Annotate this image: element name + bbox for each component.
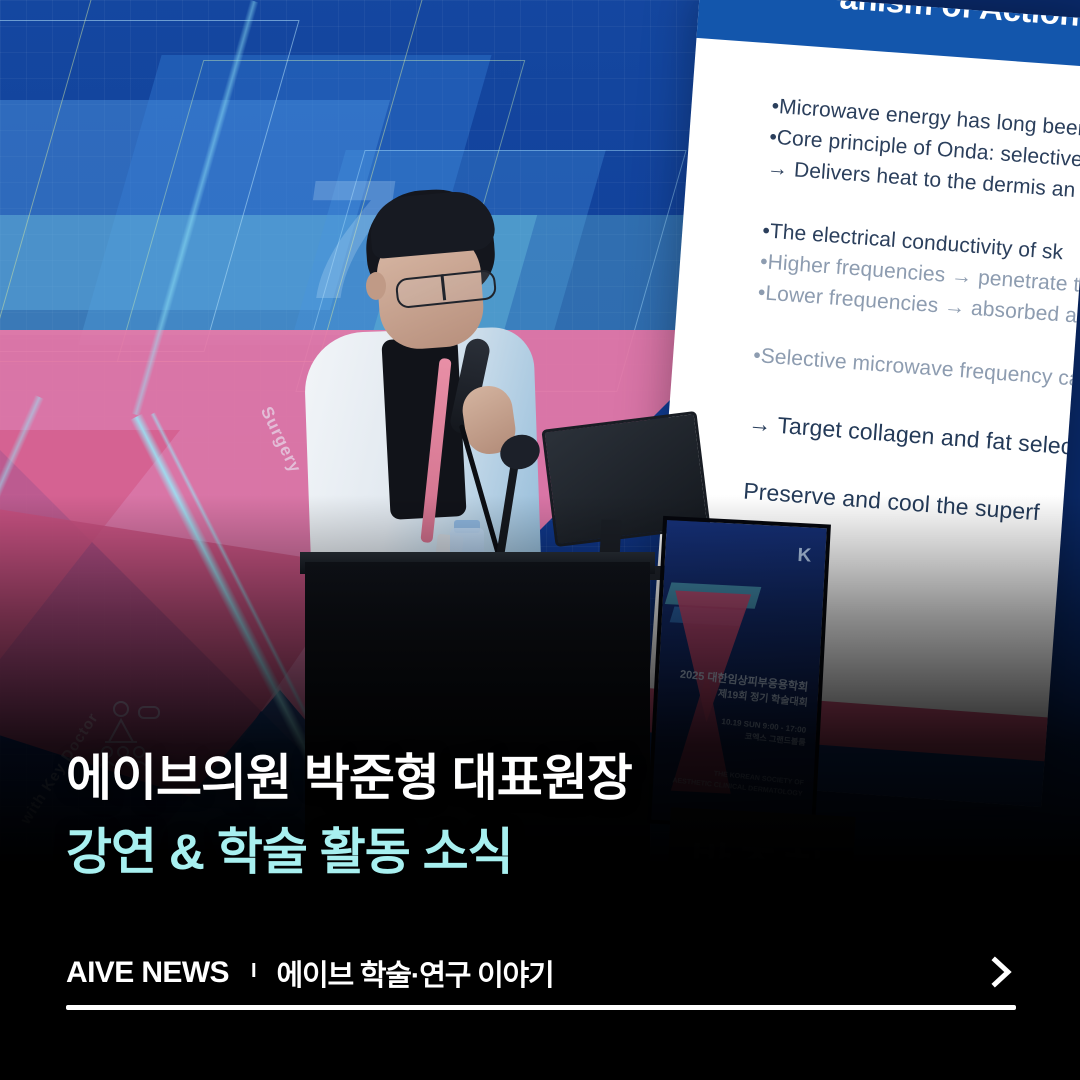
footer-text-row: AIVE NEWS I 에이브 학술·연구 이야기 bbox=[66, 952, 554, 994]
speaker-nameplate: 박준형 bbox=[665, 807, 855, 922]
slide-body: •Microwave energy has long been •Core pr… bbox=[742, 91, 1080, 538]
brand-label: AIVE NEWS bbox=[66, 956, 229, 990]
speaker-ear bbox=[366, 272, 386, 300]
footer-kicker: 에이브 학술·연구 이야기 bbox=[277, 952, 554, 994]
footer-divider bbox=[66, 1005, 1016, 1010]
footer-bar: AIVE NEWS I 에이브 학술·연구 이야기 bbox=[0, 925, 1080, 1080]
event-poster: K 2025 대한임상피부응용학회 제19회 정기 학술대회 10.19 SUN… bbox=[647, 516, 831, 832]
slide-bullet: → Target collagen and fat selec bbox=[747, 405, 1080, 470]
poster-logo: K bbox=[797, 545, 812, 568]
chevron-right-icon[interactable] bbox=[984, 955, 1018, 989]
nameplate-name: 박준형 bbox=[688, 826, 833, 902]
footer-separator: I bbox=[251, 960, 257, 983]
speaker-fringe bbox=[368, 189, 497, 260]
slide-bullet: •Selective microwave frequency ca bbox=[752, 340, 1080, 402]
slide-bullet-list: •Microwave energy has long been •Core pr… bbox=[742, 91, 1080, 538]
headline-line-2: 강연 & 학술 활동 소식 bbox=[66, 826, 513, 879]
news-card: 7 Surgery with Key Doctor anism of Actio… bbox=[0, 0, 1080, 1080]
headline-line-1: 에이브의원 박준형 대표원장 bbox=[66, 752, 632, 805]
